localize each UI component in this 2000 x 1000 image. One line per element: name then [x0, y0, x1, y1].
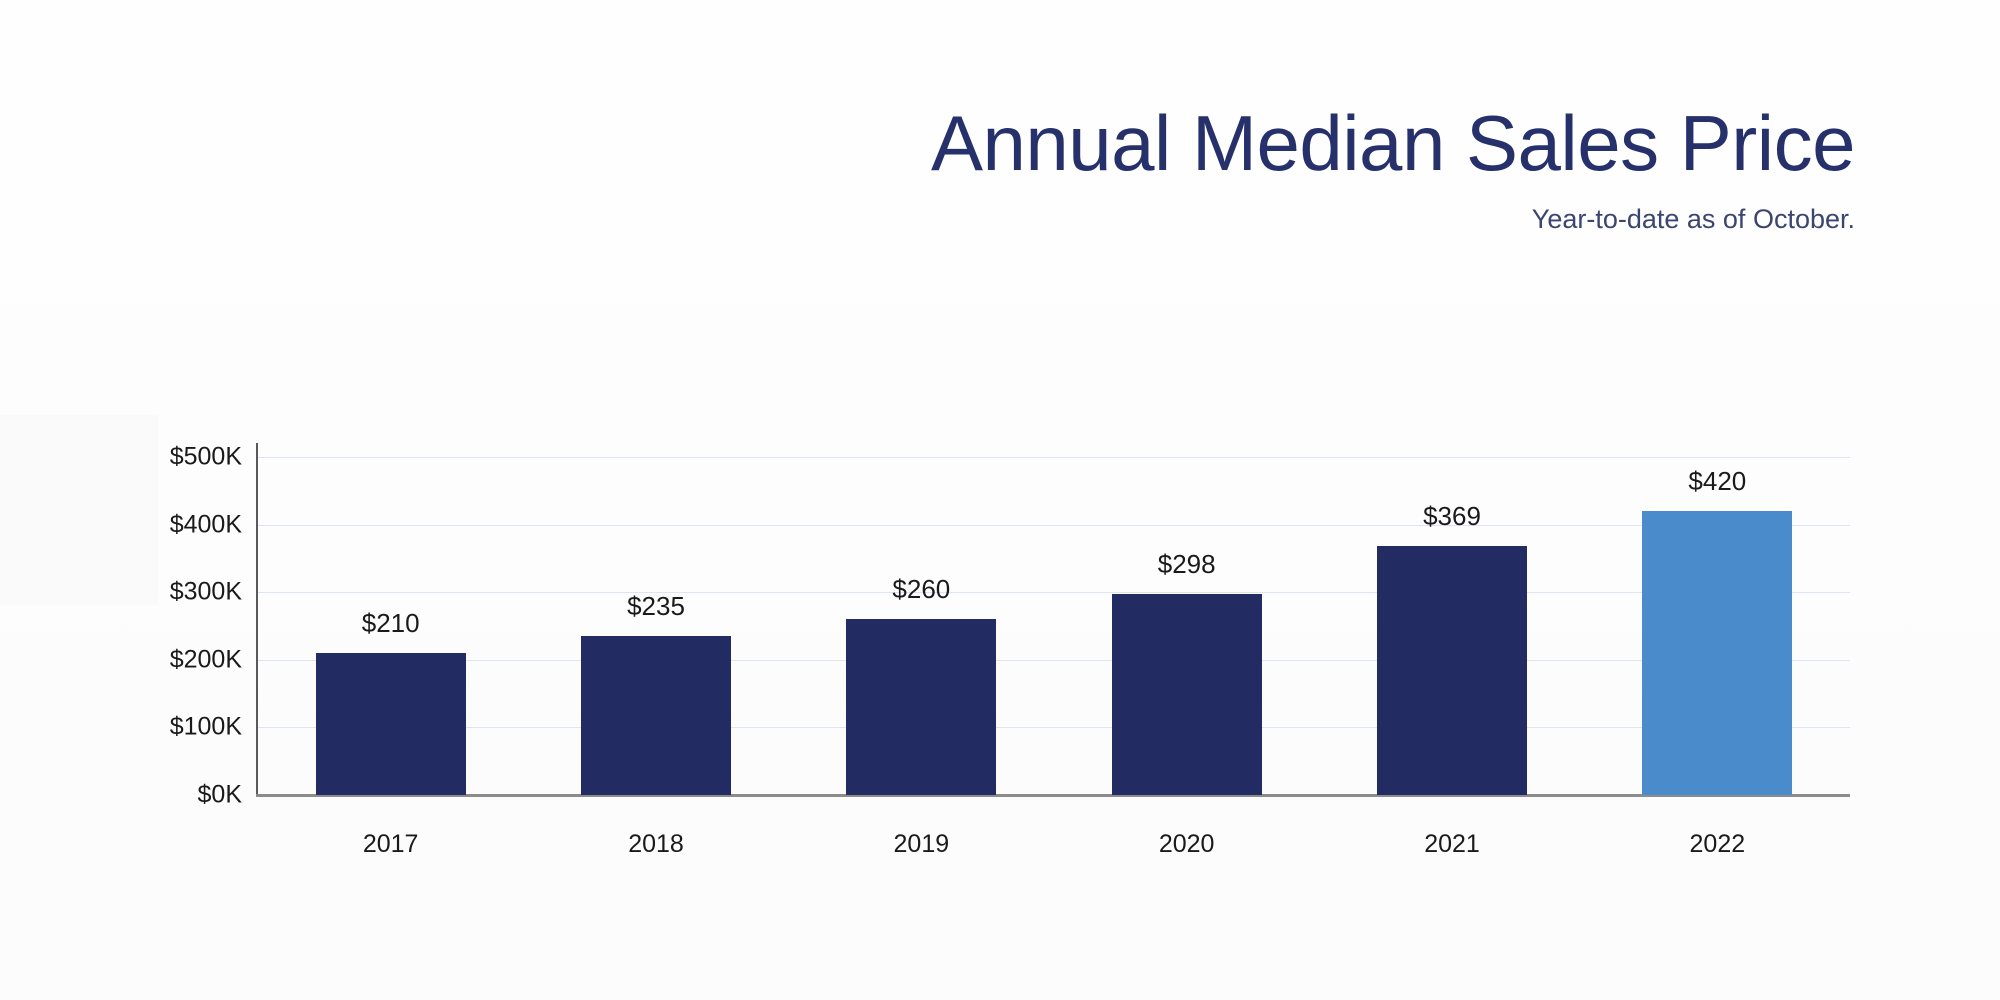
bar-value-label: $260: [892, 574, 950, 605]
bar-column[interactable]: $420: [1642, 457, 1792, 795]
bar-column[interactable]: $298: [1112, 457, 1262, 795]
bar[interactable]: [846, 619, 996, 795]
y-axis-tick-label: $500K: [100, 443, 242, 472]
y-axis-tick-label: $200K: [100, 645, 242, 674]
bar[interactable]: [1642, 511, 1792, 795]
bar-column[interactable]: $210: [316, 457, 466, 795]
bar[interactable]: [1112, 594, 1262, 795]
bars-group: $210$235$260$298$369$420: [258, 457, 1850, 795]
x-axis-tick-label: 2018: [628, 830, 684, 859]
bar[interactable]: [316, 653, 466, 795]
y-axis-tick-label: $0K: [100, 781, 242, 810]
x-axis-tick-label: 2019: [894, 830, 950, 859]
x-axis-tick-label: 2017: [363, 830, 419, 859]
bar-value-label: $420: [1688, 466, 1746, 497]
bar-column[interactable]: $369: [1377, 457, 1527, 795]
bar-chart: $0K$100K$200K$300K$400K$500K $210$235$26…: [0, 0, 2000, 1000]
x-axis-tick-label: 2020: [1159, 830, 1215, 859]
y-axis-tick-label: $400K: [100, 510, 242, 539]
bar-value-label: $298: [1158, 549, 1216, 580]
y-axis-tick-label: $300K: [100, 578, 242, 607]
bar-value-label: $210: [362, 608, 420, 639]
x-axis-tick-label: 2022: [1690, 830, 1746, 859]
bar[interactable]: [581, 636, 731, 795]
bar-column[interactable]: $235: [581, 457, 731, 795]
bar[interactable]: [1377, 546, 1527, 795]
bar-column[interactable]: $260: [846, 457, 996, 795]
bar-value-label: $235: [627, 591, 685, 622]
bar-value-label: $369: [1423, 501, 1481, 532]
x-axis-tick-label: 2021: [1424, 830, 1480, 859]
y-axis-tick-label: $100K: [100, 713, 242, 742]
